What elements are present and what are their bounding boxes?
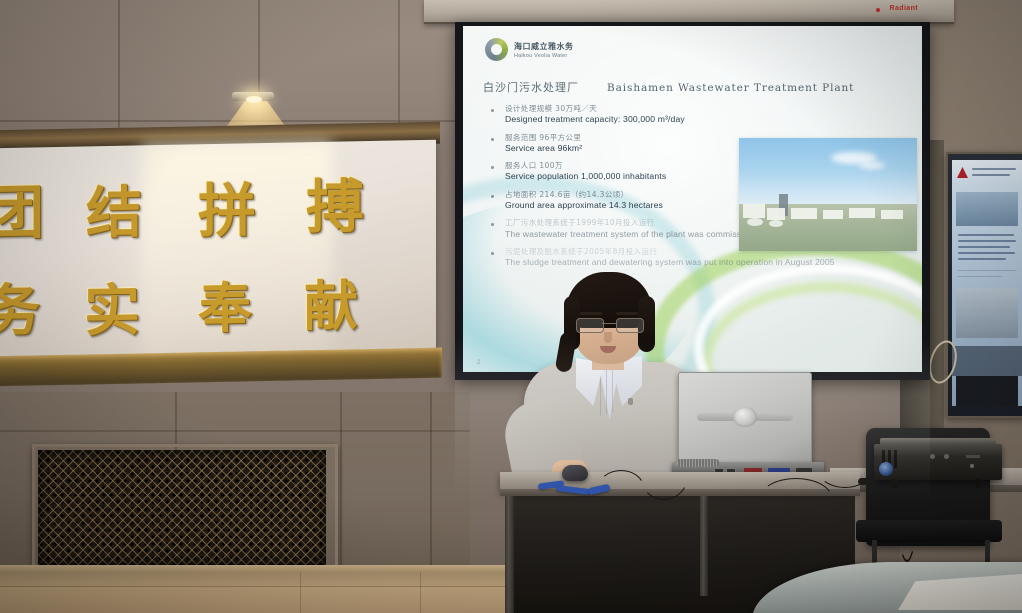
shirt-stripe — [612, 368, 613, 412]
projector-lens-icon — [879, 462, 893, 476]
photo-building — [791, 208, 817, 219]
shirt-stripe — [606, 368, 607, 414]
bullet-english: The sludge treatment and dewatering syst… — [505, 257, 899, 268]
projector-vent — [894, 450, 897, 468]
sweater-button — [628, 398, 633, 405]
slide-title-chinese: 白沙门污水处理厂 — [483, 79, 579, 95]
eyeglass-lens — [616, 318, 644, 333]
eyeglass-bridge — [602, 323, 616, 324]
eyeglass-lens — [576, 318, 604, 333]
plaque-glyph: 拼 — [198, 163, 256, 248]
slide-title: 白沙门污水处理厂 Baishamen Wastewater Treatment … — [483, 79, 903, 95]
wall-ventilation-grille — [38, 450, 326, 565]
poster-text-line — [958, 252, 1015, 254]
photo-building — [823, 210, 843, 219]
tiled-floor — [0, 572, 520, 613]
video-projector — [874, 444, 1002, 480]
projector-foot — [892, 479, 897, 488]
plaque-glyph: 献 — [304, 261, 358, 341]
spotlight-bulb-icon — [246, 96, 262, 103]
projector-foot — [976, 479, 981, 488]
photo-building — [767, 208, 785, 220]
brand-dot-icon — [876, 8, 880, 12]
poster-text-line — [958, 240, 1016, 242]
poster-photo — [956, 288, 1018, 338]
laptop-badge-icon — [733, 407, 757, 427]
photo-building — [849, 208, 875, 218]
photo-building — [743, 204, 765, 218]
cable-connector — [858, 478, 876, 485]
poster-photo — [956, 192, 1018, 226]
photo-cloud — [859, 162, 885, 169]
logo-chinese-label: 海口威立雅水务 — [514, 41, 574, 52]
panel-seam — [0, 430, 470, 432]
wall-plaque: 团 结 拼 搏 务 实 奉 献 — [0, 140, 436, 365]
person-eyebrow — [616, 312, 638, 315]
laptop-lid — [678, 372, 812, 470]
poster-text-line — [958, 246, 1010, 248]
panel-seam — [430, 392, 432, 572]
slide-photo-plant-aerial — [739, 138, 917, 251]
photo-sky — [739, 138, 917, 208]
veolia-swirl-icon — [485, 38, 508, 61]
slide-title-english: Baishamen Wastewater Treatment Plant — [607, 82, 854, 94]
floor-tile-line — [300, 572, 301, 613]
floor-tile-line — [0, 586, 520, 587]
plaque-glyph: 搏 — [306, 159, 364, 244]
logo-english-label: Haikou Veolia Water — [514, 53, 574, 59]
plaque-glyph: 团 — [0, 165, 44, 250]
floor-tile-line — [420, 572, 421, 613]
projector-knob — [930, 454, 935, 459]
poster-text-line — [958, 276, 1002, 277]
plaque-glyph: 奉 — [198, 263, 252, 343]
poster-text-line — [958, 270, 1016, 271]
poster-text-line — [958, 234, 1014, 236]
wall-seam — [258, 0, 260, 92]
person-nose — [604, 332, 612, 343]
photo-tank — [769, 220, 783, 227]
photo-building — [881, 210, 903, 219]
desk-leg — [700, 496, 708, 596]
plaque-glyph: 务 — [0, 265, 40, 347]
presentation-room-photo: 团 结 拼 搏 务 实 奉 献 Rad — [0, 0, 1022, 613]
slide-bullet: 设计处理规模 30万吨／天 Designed treatment capacit… — [489, 104, 899, 126]
bullet-chinese: 设计处理规模 30万吨／天 — [505, 104, 899, 113]
panel-seam — [340, 392, 342, 572]
slide-page-number: 2 — [477, 360, 480, 366]
projector-indicator — [970, 464, 974, 468]
laptop-speaker-grille — [677, 459, 719, 467]
plaque-glyph: 结 — [86, 167, 142, 249]
wall-information-poster — [952, 160, 1022, 406]
poster-caption-band — [952, 346, 1022, 376]
plaque-glyph: 实 — [84, 265, 140, 347]
photo-tank — [747, 218, 763, 226]
desk-leg — [505, 496, 514, 613]
slide-logo: 海口威立雅水务 Haikou Veolia Water — [485, 38, 574, 61]
bullet-english: Designed treatment capacity: 300,000 m³/… — [505, 114, 899, 125]
poster-text-line — [958, 258, 1006, 260]
poster-title-line — [972, 168, 1016, 170]
computer-mouse — [562, 465, 588, 481]
projector-label — [966, 455, 980, 458]
person-eyebrow — [580, 312, 602, 315]
poster-subtitle-line — [972, 174, 1010, 176]
poster-photo — [956, 376, 1018, 406]
projector-knob — [944, 454, 949, 459]
eyeglasses-icon — [576, 318, 642, 332]
screen-brand-label: Radiant — [890, 5, 918, 12]
chair-right-seat — [856, 520, 1002, 542]
projection-screen-housing: Radiant — [424, 0, 954, 24]
